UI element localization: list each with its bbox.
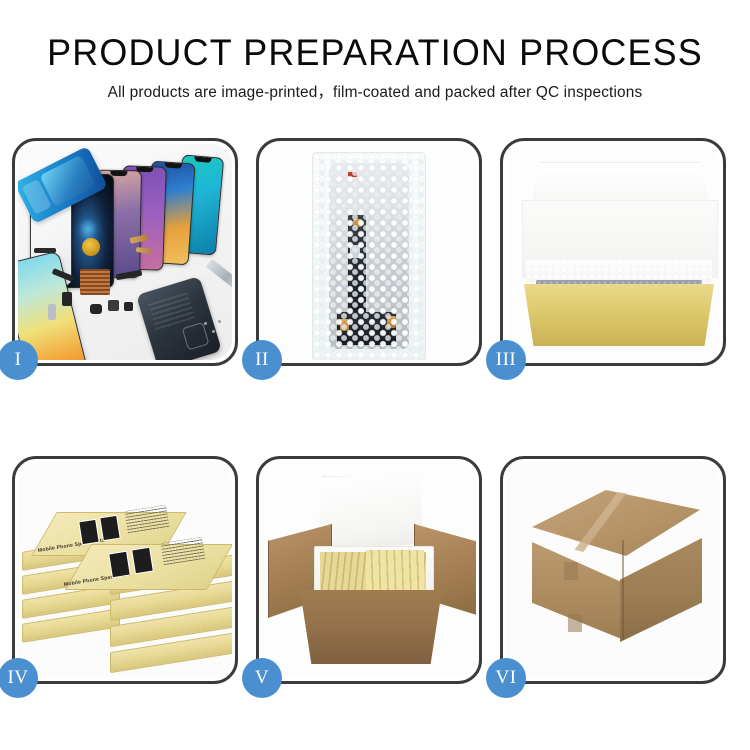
product-preparation-infographic: PRODUCT PREPARATION PROCESS All products…: [0, 0, 750, 750]
sim-tray-icon: [48, 304, 56, 320]
packed-kraft-boxes-icon: [366, 550, 424, 590]
step-6-image: [506, 462, 720, 678]
phone-print-icon: [99, 515, 121, 542]
screw-icon: [218, 320, 221, 323]
carton-tab-icon: [564, 562, 578, 580]
page-subtitle: All products are image-printed，film-coat…: [0, 83, 750, 103]
step-1-image: [18, 144, 232, 360]
earpiece-mesh-icon: [108, 300, 119, 311]
process-step-panel-1: I: [12, 138, 238, 366]
step-badge-3: III: [486, 340, 526, 380]
carton-edge-seam: [622, 540, 624, 640]
process-step-panel-3: III: [500, 138, 726, 366]
process-step-panel-2: II: [256, 138, 482, 366]
speaker-module-icon: [82, 238, 100, 256]
step-4-image: Mobile Phone Spare Parts Mobile Phone Sp…: [18, 462, 232, 678]
antenna-strip-icon: [34, 248, 56, 253]
process-step-panel-6: VI: [500, 456, 726, 684]
carton-tab-icon: [568, 614, 582, 632]
header: PRODUCT PREPARATION PROCESS All products…: [0, 30, 750, 103]
phone-print-icon: [78, 519, 100, 546]
bubble-wrap-bag-icon: [312, 152, 426, 360]
process-step-panel-4: Mobile Phone Spare Parts Mobile Phone Sp…: [12, 456, 238, 684]
step-5-image: [262, 462, 476, 678]
step-2-image: [262, 144, 476, 360]
step-badge-2: II: [242, 340, 282, 380]
button-set-icon: [124, 302, 133, 311]
step-3-image: [506, 144, 720, 360]
bubble-texture-overlay: [313, 153, 425, 360]
step-badge-4: IV: [0, 658, 38, 698]
phone-print-icon: [108, 551, 131, 579]
step-badge-1: I: [0, 340, 38, 380]
camera-bracket-icon: [62, 292, 72, 306]
step-badge-5: V: [242, 658, 282, 698]
process-step-panel-5: V: [256, 456, 482, 684]
page-title: PRODUCT PREPARATION PROCESS: [11, 30, 739, 76]
process-steps-grid: I II: [12, 138, 738, 684]
step-badge-6: VI: [486, 658, 526, 698]
screw-icon: [212, 330, 215, 333]
vibrator-motor-icon: [90, 304, 102, 314]
phone-print-icon: [131, 547, 154, 575]
carton-body-icon: [300, 590, 442, 664]
kraft-box-stack: Mobile Phone Spare Parts Mobile Phone Sp…: [22, 486, 232, 672]
shield-mesh-icon: [80, 269, 110, 295]
foam-lid-icon: [318, 476, 424, 550]
kraft-tray-icon: [524, 284, 714, 346]
screw-icon: [204, 322, 207, 325]
